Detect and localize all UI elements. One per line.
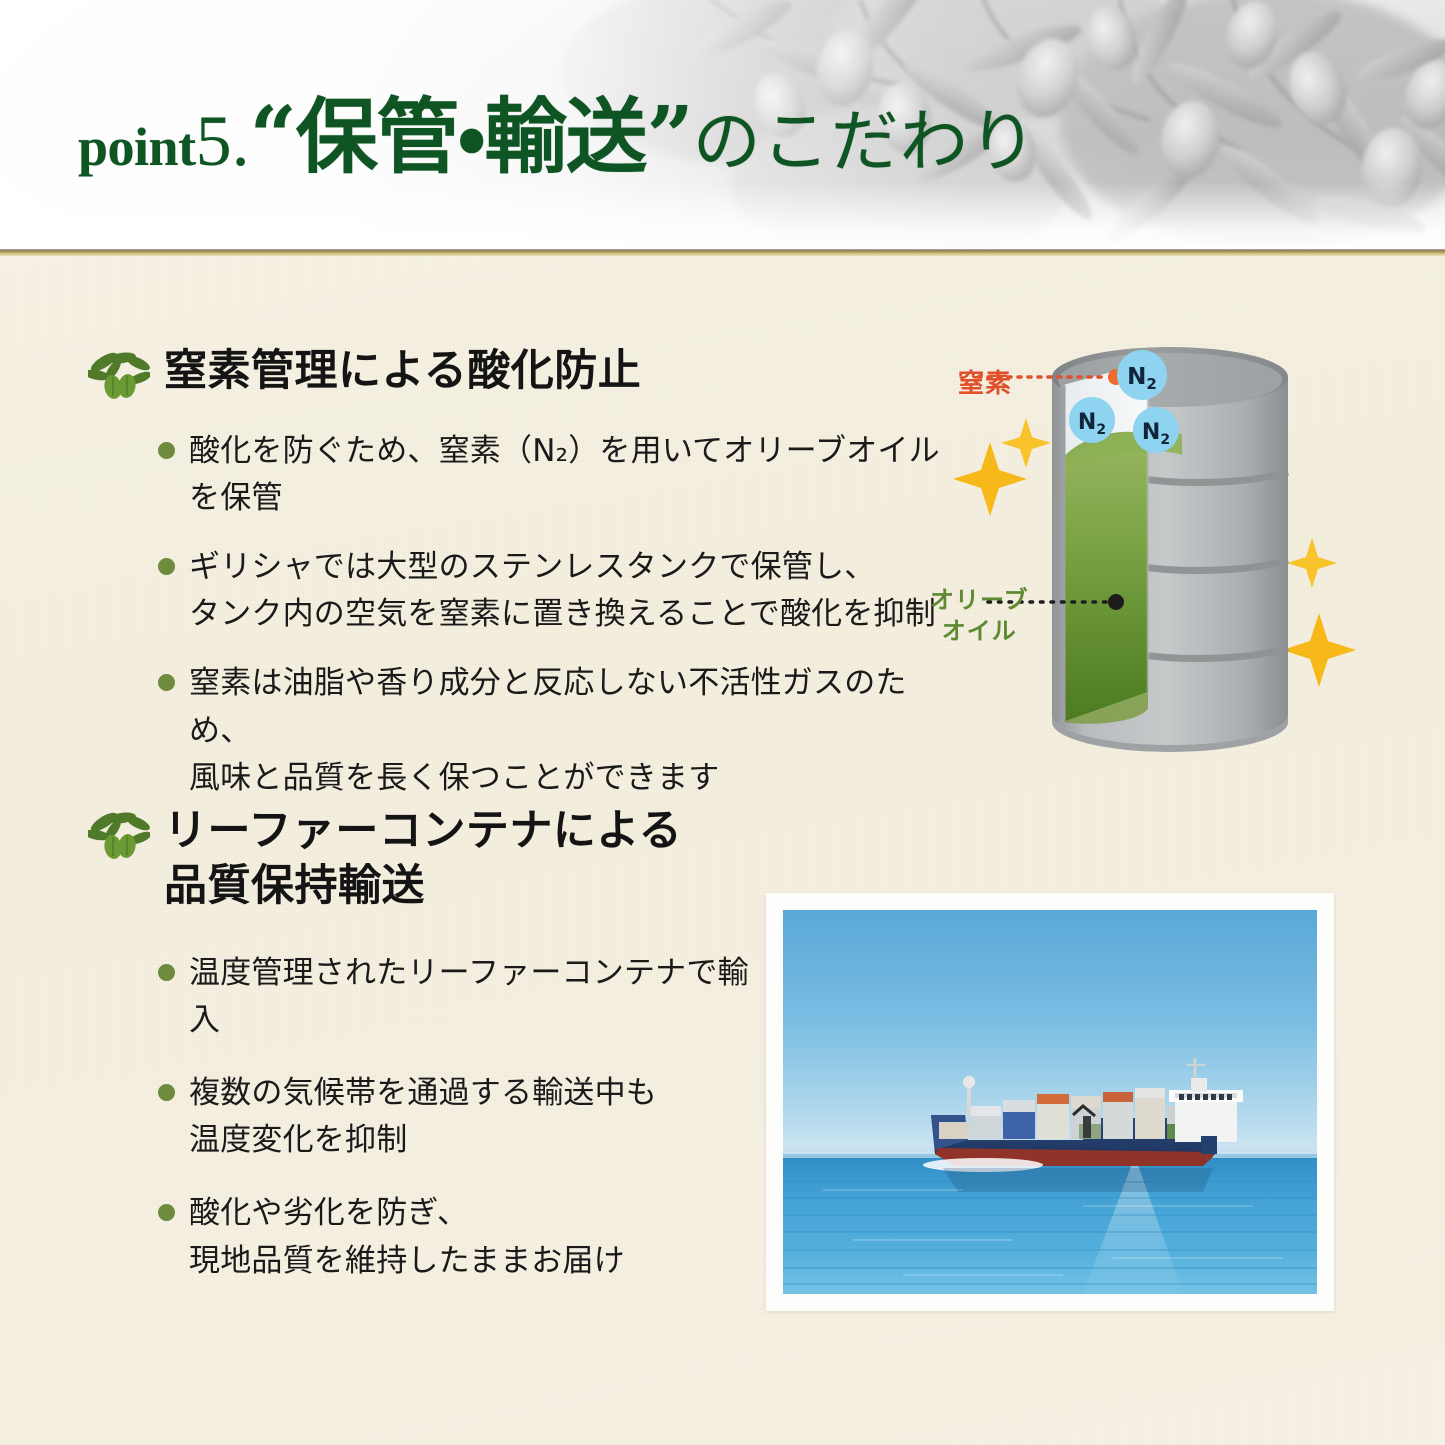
page-title: point5.“保管・輸送”のこだわり xyxy=(78,96,1038,178)
sparkle-icon xyxy=(1001,418,1051,468)
page-header: point5.“保管・輸送”のこだわり xyxy=(0,0,1445,252)
section-heading-text: リーファーコンテナによる 品質保持輸送 xyxy=(164,804,682,914)
olive-branch-icon xyxy=(88,350,150,407)
nitrogen-bubble: N2 xyxy=(1133,407,1179,453)
header-bottom-fade xyxy=(0,182,1445,252)
bullet-list-nitrogen: 酸化を防ぐため、窒素（N₂）を用いてオリーブオイルを保管 ギリシャでは大型のステ… xyxy=(158,428,948,802)
list-item: 酸化や劣化を防ぎ、 現地品質を維持したままお届け xyxy=(158,1190,778,1284)
title-point-word: point xyxy=(78,117,196,177)
bullet-dot-icon xyxy=(158,558,175,575)
bullet-list-reefer: 温度管理されたリーファーコンテナで輸入 複数の気候帯を通過する輸送中も 温度変化… xyxy=(158,950,778,1285)
title-quoted-phrase: “保管・輸送” xyxy=(250,89,693,185)
bullet-text: 窒素は油脂や香り成分と反応しない不活性ガスのため、 風味と品質を長く保つことがで… xyxy=(189,660,948,801)
sparkle-icon xyxy=(1282,613,1356,687)
list-item: 温度管理されたリーファーコンテナで輸入 xyxy=(158,950,778,1044)
section-heading-text: 窒素管理による酸化防止 xyxy=(164,344,641,399)
bullet-text: 温度管理されたリーファーコンテナで輸入 xyxy=(189,950,778,1044)
section-heading-reefer: リーファーコンテナによる 品質保持輸送 xyxy=(88,804,682,914)
nitrogen-tank-diagram: N2 N2 N2 窒素 オリーブ オイル xyxy=(920,330,1390,760)
nitrogen-bubble: N2 xyxy=(1069,397,1115,443)
bullet-text: 複数の気候帯を通過する輸送中も 温度変化を抑制 xyxy=(189,1070,657,1164)
olive-branch-icon xyxy=(88,810,150,867)
bullet-text: 酸化や劣化を防ぎ、 現地品質を維持したままお届け xyxy=(189,1190,625,1284)
nitrogen-bubble: N2 xyxy=(1117,350,1167,400)
bullet-dot-icon xyxy=(158,1084,175,1101)
list-item: 酸化を防ぐため、窒素（N₂）を用いてオリーブオイルを保管 xyxy=(158,428,948,522)
title-tail-phrase: のこだわり xyxy=(693,103,1038,182)
nitrogen-label: 窒素 xyxy=(958,363,1012,400)
olive-oil-label: オリーブ オイル xyxy=(930,585,1029,646)
bullet-dot-icon xyxy=(158,964,175,981)
list-item: 複数の気候帯を通過する輸送中も 温度変化を抑制 xyxy=(158,1070,778,1164)
section-heading-nitrogen: 窒素管理による酸化防止 xyxy=(88,344,641,407)
infographic-page: point5.“保管・輸送”のこだわり xyxy=(0,0,1445,1445)
bullet-dot-icon xyxy=(158,442,175,459)
bullet-dot-icon xyxy=(158,1204,175,1221)
title-number: 5. xyxy=(196,101,250,181)
bullet-text: 酸化を防ぐため、窒素（N₂）を用いてオリーブオイルを保管 xyxy=(189,428,948,522)
bullet-dot-icon xyxy=(158,674,175,691)
sparkle-icon xyxy=(1287,538,1337,588)
list-item: 窒素は油脂や香り成分と反応しない不活性ガスのため、 風味と品質を長く保つことがで… xyxy=(158,660,948,801)
bullet-text: ギリシャでは大型のステンレスタンクで保管し、 タンク内の空気を窒素に置き換えるこ… xyxy=(189,544,936,638)
list-item: ギリシャでは大型のステンレスタンクで保管し、 タンク内の空気を窒素に置き換えるこ… xyxy=(158,544,948,638)
header-divider-rule xyxy=(0,249,1445,256)
sparkle-icon xyxy=(953,442,1027,516)
ship-photo-frame xyxy=(766,893,1334,1311)
container-ship-photo xyxy=(783,910,1317,1294)
